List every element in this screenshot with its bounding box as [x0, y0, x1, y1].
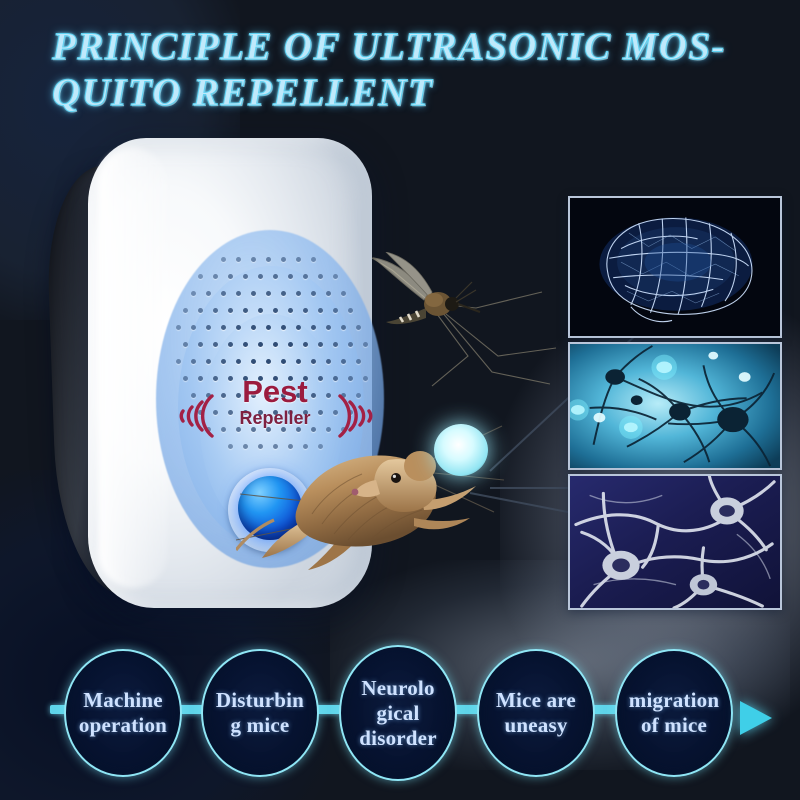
brain-wireframe-panel[interactable]: [568, 196, 782, 338]
mouse-illustration: [236, 408, 506, 588]
neuron-network-panel[interactable]: [568, 342, 782, 470]
page-title-line-1: PRINCIPLE OF ULTRASONIC MOS-: [52, 24, 772, 70]
process-flow-diagram: Machine operation Disturbin g mice Neuro…: [40, 645, 770, 790]
flow-node-migration-of-mice[interactable]: migration of mice: [615, 649, 733, 777]
flow-connector-4: [593, 705, 617, 714]
synapse-micrograph-panel[interactable]: [568, 474, 782, 610]
mosquito-illustration: [372, 252, 557, 392]
glowing-ear-ultrasound-indicator: [434, 424, 488, 476]
flow-node-machine-operation[interactable]: Machine operation: [64, 649, 182, 777]
sound-wave-left-icon: [172, 384, 218, 448]
flow-connector-2: [317, 705, 341, 714]
flow-node-mice-are-uneasy[interactable]: Mice are uneasy: [477, 649, 595, 777]
flow-connector-3: [455, 705, 479, 714]
infographic-canvas: PRINCIPLE OF ULTRASONIC MOS- QUITO REPEL…: [0, 0, 800, 800]
flow-node-disturbing-mice[interactable]: Disturbin g mice: [201, 649, 319, 777]
flow-arrow-icon: [740, 701, 772, 735]
flow-node-label: Machine operation: [66, 688, 180, 738]
flow-node-neurological-disorder[interactable]: Neurolo gical disorder: [339, 645, 457, 781]
flow-node-label: Neurolo gical disorder: [341, 676, 455, 751]
flow-connector-1: [179, 705, 203, 714]
page-title: PRINCIPLE OF ULTRASONIC MOS- QUITO REPEL…: [52, 24, 772, 116]
page-title-line-2: QUITO REPELLENT: [52, 70, 772, 116]
flow-node-label: Disturbin g mice: [203, 688, 317, 738]
flow-node-label: Mice are uneasy: [479, 688, 593, 738]
flow-node-label: migration of mice: [617, 688, 731, 738]
